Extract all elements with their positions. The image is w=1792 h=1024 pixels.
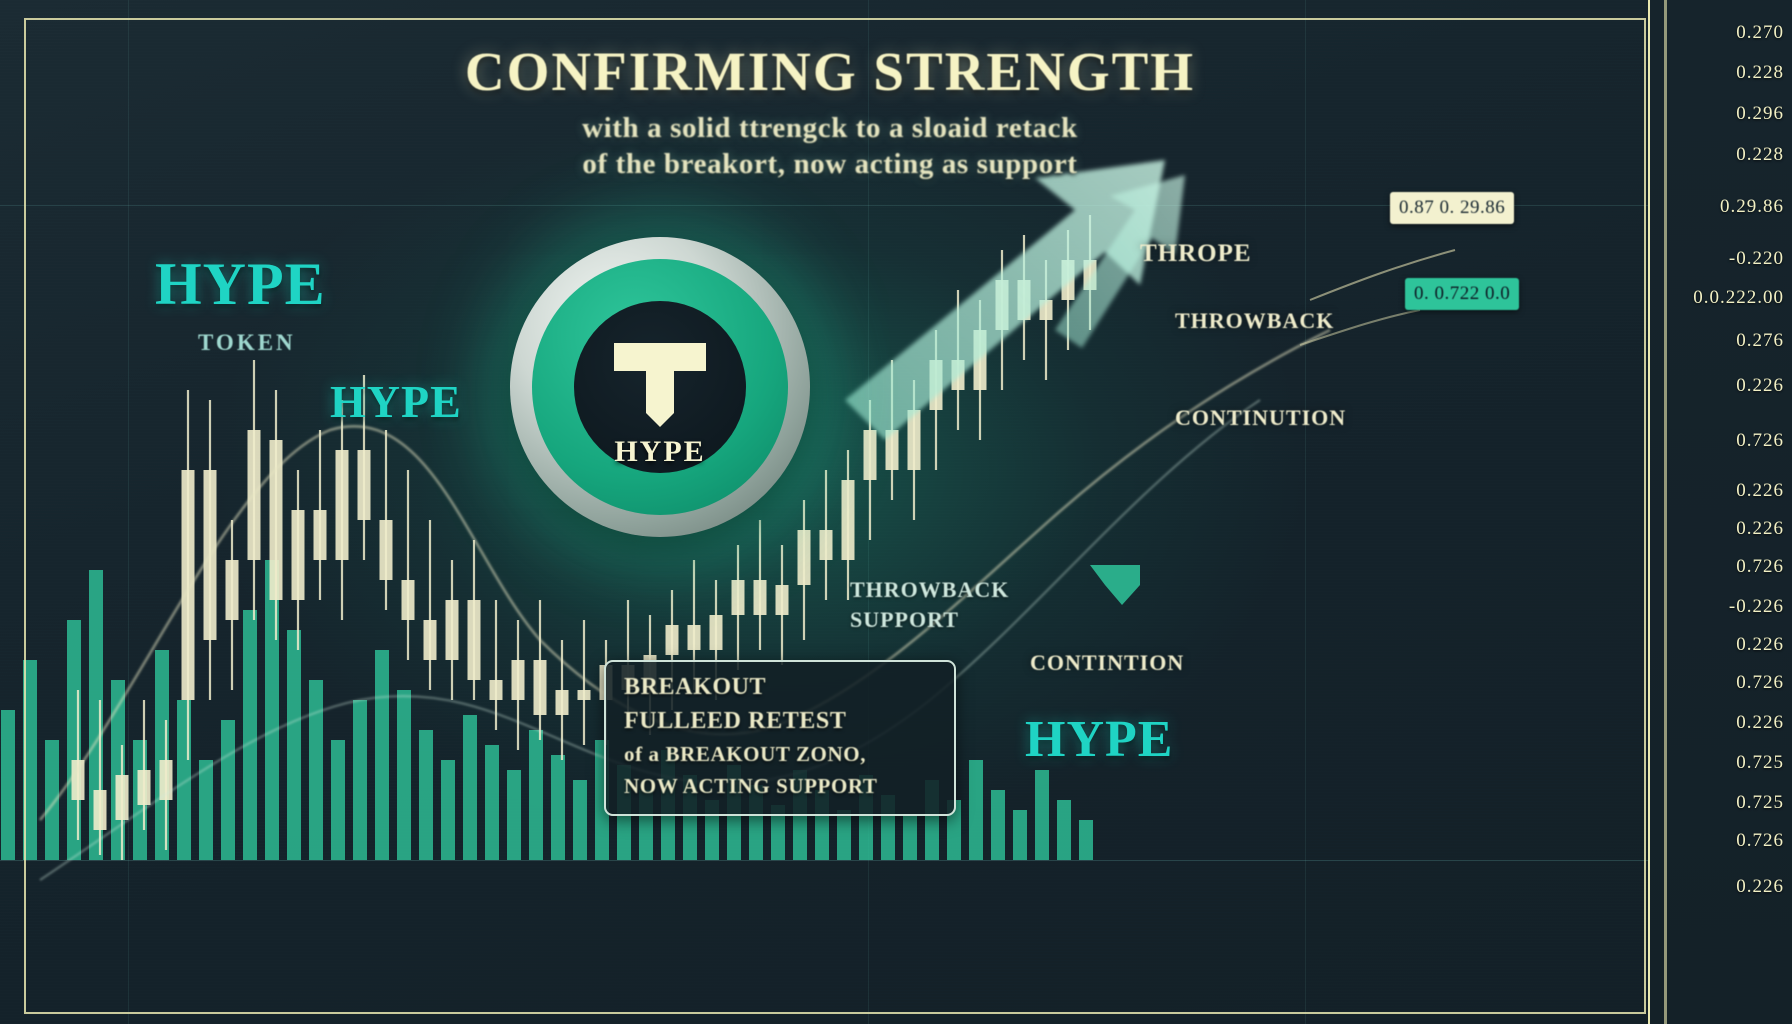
chart-canvas: HYPE CONFIRMING STRENGTH with a solid tt… (0, 0, 1792, 1024)
axis-tick: 0.29.86 (1720, 196, 1784, 218)
chart-frame (24, 18, 1646, 1014)
axis-tick: 0.726 (1736, 672, 1784, 694)
axis-tick: 0.296 (1736, 103, 1784, 125)
axis-tick: -0.226 (1729, 596, 1784, 618)
axis-tick: 0.228 (1736, 62, 1784, 84)
axis-tick: 0.228 (1736, 144, 1784, 166)
axis-tick: 0.726 (1736, 556, 1784, 578)
axis-tick: 0.0.222.00 (1693, 287, 1784, 309)
price-axis[interactable]: 0.2700.2280.2960.2280.29.86-0.2200.0.222… (1648, 0, 1792, 1024)
axis-tick: 0.226 (1736, 480, 1784, 502)
axis-tick: 0.726 (1736, 430, 1784, 452)
axis-tick: -0.220 (1729, 248, 1784, 270)
axis-tick: 0.726 (1736, 830, 1784, 852)
axis-spine (1664, 0, 1667, 1024)
volume-bar (1, 710, 15, 860)
axis-tick: 0.226 (1736, 634, 1784, 656)
axis-tick: 0.226 (1736, 518, 1784, 540)
axis-tick: 0.270 (1736, 22, 1784, 44)
axis-tick: 0.725 (1736, 792, 1784, 814)
axis-tick: 0.226 (1736, 375, 1784, 397)
axis-tick: 0.725 (1736, 752, 1784, 774)
axis-tick: 0.276 (1736, 330, 1784, 352)
axis-tick: 0.226 (1736, 876, 1784, 898)
axis-tick: 0.226 (1736, 712, 1784, 734)
